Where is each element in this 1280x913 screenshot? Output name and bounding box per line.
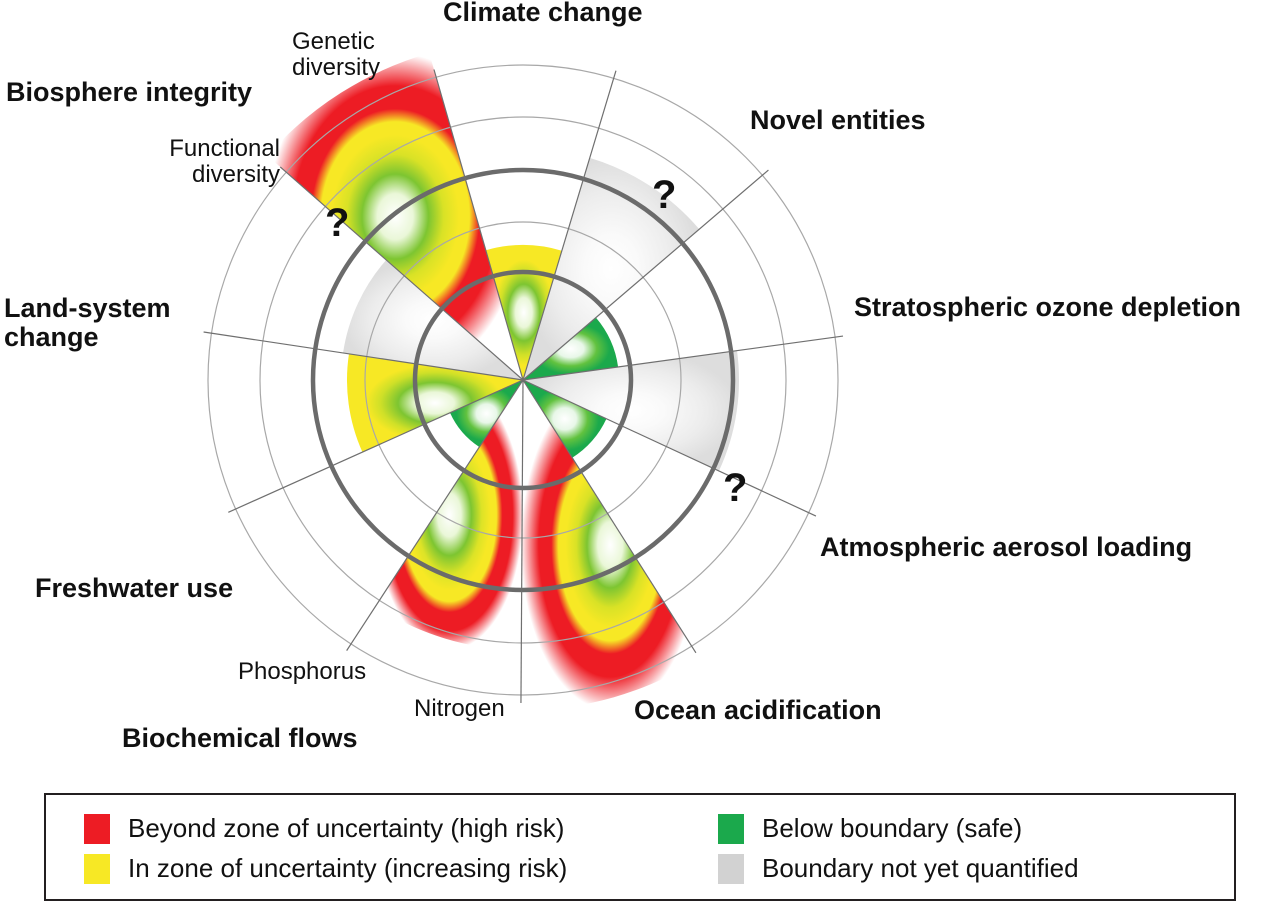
label-phosphorus: Phosphorus (238, 659, 366, 685)
legend-swatch-red (84, 814, 110, 844)
label-novel-entities: Novel entities (750, 106, 926, 135)
legend-label-yellow: In zone of uncertainty (increasing risk) (128, 853, 567, 884)
label-ocean-acidification: Ocean acidification (634, 696, 882, 725)
legend: Beyond zone of uncertainty (high risk) I… (44, 793, 1236, 901)
legend-swatch-yellow (84, 854, 110, 884)
wedge-group (267, 53, 739, 710)
label-biosphere-integrity: Biosphere integrity (6, 78, 252, 107)
legend-swatch-green (718, 814, 744, 844)
label-nitrogen: Nitrogen (414, 696, 505, 722)
legend-label-red: Beyond zone of uncertainty (high risk) (128, 813, 564, 844)
legend-item-yellow: In zone of uncertainty (increasing risk) (84, 853, 567, 884)
label-climate-change: Climate change (443, 0, 643, 27)
question-mark-functional-diversity: ? (325, 203, 349, 243)
legend-label-grey: Boundary not yet quantified (762, 853, 1079, 884)
label-land-system-change: Land-system change (4, 294, 171, 352)
legend-item-green: Below boundary (safe) (718, 813, 1022, 844)
label-functional-diversity: Functional diversity (148, 136, 280, 187)
question-mark-atmospheric-aerosol: ? (723, 468, 747, 508)
legend-item-red: Beyond zone of uncertainty (high risk) (84, 813, 564, 844)
label-genetic-diversity: Genetic diversity (292, 29, 380, 80)
planetary-boundaries-figure: ? ? ? Climate change Genetic diversity B… (0, 0, 1280, 913)
label-biochemical-flows: Biochemical flows (122, 724, 358, 753)
legend-label-green: Below boundary (safe) (762, 813, 1022, 844)
question-mark-novel-entities: ? (652, 175, 676, 215)
label-freshwater-use: Freshwater use (35, 574, 233, 603)
label-stratospheric-ozone-depletion: Stratospheric ozone depletion (854, 293, 1241, 322)
legend-item-grey: Boundary not yet quantified (718, 853, 1079, 884)
legend-swatch-grey (718, 854, 744, 884)
label-atmospheric-aerosol-loading: Atmospheric aerosol loading (820, 533, 1192, 562)
